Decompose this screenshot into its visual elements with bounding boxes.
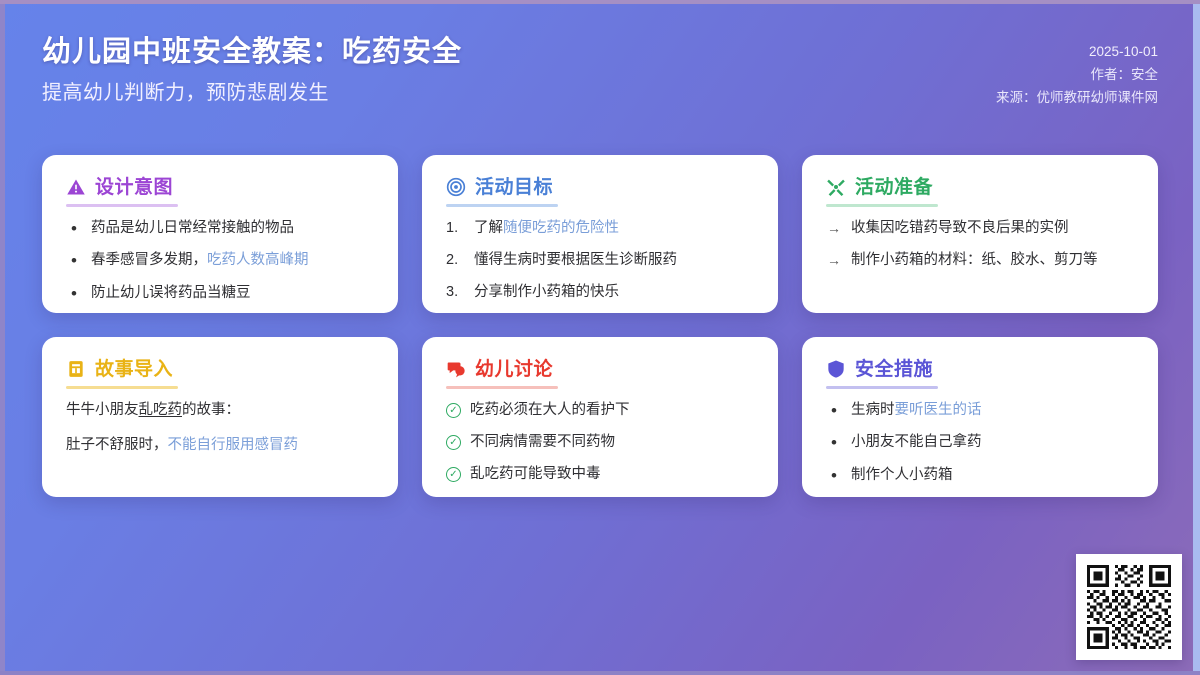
- card-safety-measures[interactable]: 安全措施•生病时要听医生的话•小朋友不能自己拿药•制作个人小药箱: [802, 337, 1158, 497]
- text-plain: 了解: [474, 220, 503, 236]
- warning-triangle-icon: [66, 177, 86, 197]
- text-highlight: 要听医生的话: [895, 402, 982, 418]
- header-meta: 2025-10-01 作者：安全 来源：优师教研幼师课件网: [996, 32, 1158, 110]
- list-item: ✓吃药必须在大人的看护下: [446, 400, 754, 421]
- card-story-intro[interactable]: 故事导入牛牛小朋友乱吃药的故事：肚子不舒服时，不能自行服用感冒药: [42, 337, 398, 497]
- page-subtitle: 提高幼儿判断力，预防悲剧发生: [42, 80, 462, 106]
- qr-code-image: [1084, 562, 1174, 652]
- target-icon: [446, 177, 466, 197]
- text-plain: 小朋友不能自己拿药: [851, 434, 982, 450]
- card-list: •生病时要听医生的话•小朋友不能自己拿药•制作个人小药箱: [826, 400, 1134, 486]
- list-marker-number: 3.: [446, 282, 465, 303]
- list-item: •药品是幼儿日常经常接触的物品: [66, 218, 374, 239]
- arrow-right-icon: →: [826, 250, 842, 270]
- paragraph: 肚子不舒服时，不能自行服用感冒药: [66, 435, 374, 457]
- speech-bubbles-icon: [446, 359, 466, 379]
- text-plain: 的故事：: [182, 402, 240, 418]
- card-design-intent[interactable]: 设计意图•药品是幼儿日常经常接触的物品•春季感冒多发期，吃药人数高峰期•防止幼儿…: [42, 155, 398, 313]
- card-body: •生病时要听医生的话•小朋友不能自己拿药•制作个人小药箱: [826, 400, 1134, 486]
- tools-icon: [826, 177, 846, 197]
- text-plain: 肚子不舒服时，: [66, 437, 168, 453]
- card-header: 幼儿讨论: [446, 359, 754, 379]
- card-title-rule: [826, 386, 938, 389]
- text-plain: 生病时: [851, 402, 895, 418]
- page-title: 幼儿园中班安全教案：吃药安全: [42, 34, 462, 70]
- card-title: 故事导入: [95, 360, 173, 379]
- list-item: 2.懂得生病时要根据医生诊断服药: [446, 250, 754, 271]
- card-header: 故事导入: [66, 359, 374, 379]
- frame-edge-left: [0, 0, 5, 675]
- list-item-text: 了解随便吃药的危险性: [474, 218, 619, 239]
- list-marker-number: 2.: [446, 250, 465, 271]
- card-header: 设计意图: [66, 177, 374, 197]
- list-item: →收集因吃错药导致不良后果的实例: [826, 218, 1134, 239]
- text-plain: 乱吃药可能导致中毒: [470, 466, 601, 482]
- list-item-text: 生病时要听医生的话: [851, 400, 982, 421]
- list-item: ✓乱吃药可能导致中毒: [446, 464, 754, 485]
- text-plain: 药品是幼儿日常经常接触的物品: [91, 220, 294, 236]
- bullet-dot-icon: •: [66, 283, 82, 304]
- check-circle-icon: ✓: [446, 403, 461, 418]
- list-item: •小朋友不能自己拿药: [826, 432, 1134, 453]
- card-body: 1.了解随便吃药的危险性2.懂得生病时要根据医生诊断服药3.分享制作小药箱的快乐: [446, 218, 754, 303]
- list-item: →制作小药箱的材料：纸、胶水、剪刀等: [826, 250, 1134, 271]
- text-plain: 牛牛小朋友: [66, 402, 139, 418]
- list-item-text: 防止幼儿误将药品当糖豆: [91, 283, 251, 304]
- card-title-rule: [826, 204, 938, 207]
- text-plain: 收集因吃错药导致不良后果的实例: [851, 220, 1069, 236]
- meta-source: 来源：优师教研幼师课件网: [996, 86, 1158, 109]
- arrow-right-icon: →: [826, 218, 842, 238]
- card-header: 活动准备: [826, 177, 1134, 197]
- card-list: 1.了解随便吃药的危险性2.懂得生病时要根据医生诊断服药3.分享制作小药箱的快乐: [446, 218, 754, 303]
- shield-icon: [826, 359, 846, 379]
- text-underline: 乱吃药: [139, 402, 183, 418]
- card-title: 活动目标: [475, 178, 553, 197]
- bullet-dot-icon: •: [826, 432, 842, 453]
- frame-edge-right: [1193, 0, 1200, 675]
- frame-edge-top: [0, 0, 1200, 4]
- card-title: 设计意图: [95, 178, 173, 197]
- list-item-text: 懂得生病时要根据医生诊断服药: [474, 250, 677, 271]
- card-title-rule: [66, 204, 178, 207]
- list-marker-number: 1.: [446, 218, 465, 239]
- card-body: 牛牛小朋友乱吃药的故事：肚子不舒服时，不能自行服用感冒药: [66, 400, 374, 457]
- list-item-text: 制作小药箱的材料：纸、胶水、剪刀等: [851, 250, 1098, 271]
- list-item-text: 分享制作小药箱的快乐: [474, 282, 619, 303]
- card-body: →收集因吃错药导致不良后果的实例→制作小药箱的材料：纸、胶水、剪刀等: [826, 218, 1134, 271]
- text-highlight: 吃药人数高峰期: [207, 252, 309, 268]
- bullet-dot-icon: •: [66, 218, 82, 239]
- list-item-text: 药品是幼儿日常经常接触的物品: [91, 218, 294, 239]
- list-item-text: 小朋友不能自己拿药: [851, 432, 982, 453]
- list-item-text: 收集因吃错药导致不良后果的实例: [851, 218, 1069, 239]
- list-item: 1.了解随便吃药的危险性: [446, 218, 754, 239]
- check-circle-icon: ✓: [446, 467, 461, 482]
- meta-date: 2025-10-01: [996, 40, 1158, 63]
- list-item-text: 春季感冒多发期，吃药人数高峰期: [91, 250, 309, 271]
- text-plain: 不同病情需要不同药物: [470, 434, 615, 450]
- card-header: 安全措施: [826, 359, 1134, 379]
- list-item: •生病时要听医生的话: [826, 400, 1134, 421]
- card-activity-goals[interactable]: 活动目标1.了解随便吃药的危险性2.懂得生病时要根据医生诊断服药3.分享制作小药…: [422, 155, 778, 313]
- card-list: •药品是幼儿日常经常接触的物品•春季感冒多发期，吃药人数高峰期•防止幼儿误将药品…: [66, 218, 374, 304]
- card-activity-preparation[interactable]: 活动准备→收集因吃错药导致不良后果的实例→制作小药箱的材料：纸、胶水、剪刀等: [802, 155, 1158, 313]
- text-plain: 春季感冒多发期，: [91, 252, 207, 268]
- card-title-rule: [446, 204, 558, 207]
- text-highlight: 不能自行服用感冒药: [168, 437, 299, 453]
- card-title: 幼儿讨论: [475, 360, 553, 379]
- book-icon: [66, 359, 86, 379]
- card-body: ✓吃药必须在大人的看护下✓不同病情需要不同药物✓乱吃药可能导致中毒: [446, 400, 754, 485]
- card-title-rule: [446, 386, 558, 389]
- paragraph: 牛牛小朋友乱吃药的故事：: [66, 400, 374, 422]
- card-header: 活动目标: [446, 177, 754, 197]
- list-item-text: 吃药必须在大人的看护下: [470, 400, 630, 421]
- card-title: 活动准备: [855, 178, 933, 197]
- card-grid: 设计意图•药品是幼儿日常经常接触的物品•春季感冒多发期，吃药人数高峰期•防止幼儿…: [42, 155, 1158, 497]
- card-title-rule: [66, 386, 178, 389]
- meta-author: 作者：安全: [996, 63, 1158, 86]
- card-list: →收集因吃错药导致不良后果的实例→制作小药箱的材料：纸、胶水、剪刀等: [826, 218, 1134, 271]
- list-item: •制作个人小药箱: [826, 465, 1134, 486]
- list-item-text: 制作个人小药箱: [851, 465, 953, 486]
- card-title: 安全措施: [855, 360, 933, 379]
- title-block: 幼儿园中班安全教案：吃药安全 提高幼儿判断力，预防悲剧发生: [42, 32, 462, 106]
- card-list: ✓吃药必须在大人的看护下✓不同病情需要不同药物✓乱吃药可能导致中毒: [446, 400, 754, 485]
- text-plain: 防止幼儿误将药品当糖豆: [91, 285, 251, 301]
- text-plain: 懂得生病时要根据医生诊断服药: [474, 252, 677, 268]
- slide-canvas: 幼儿园中班安全教案：吃药安全 提高幼儿判断力，预防悲剧发生 2025-10-01…: [0, 0, 1200, 675]
- text-plain: 吃药必须在大人的看护下: [470, 402, 630, 418]
- list-item: •春季感冒多发期，吃药人数高峰期: [66, 250, 374, 271]
- frame-edge-bottom: [0, 671, 1200, 675]
- bullet-dot-icon: •: [66, 250, 82, 271]
- list-item-text: 乱吃药可能导致中毒: [470, 464, 601, 485]
- text-plain: 制作个人小药箱: [851, 467, 953, 483]
- check-circle-icon: ✓: [446, 435, 461, 450]
- list-item-text: 不同病情需要不同药物: [470, 432, 615, 453]
- bullet-dot-icon: •: [826, 465, 842, 486]
- qr-code[interactable]: [1076, 554, 1182, 660]
- text-highlight: 随便吃药的危险性: [503, 220, 619, 236]
- slide-header: 幼儿园中班安全教案：吃药安全 提高幼儿判断力，预防悲剧发生 2025-10-01…: [42, 32, 1158, 110]
- list-item: ✓不同病情需要不同药物: [446, 432, 754, 453]
- list-item: •防止幼儿误将药品当糖豆: [66, 283, 374, 304]
- list-item: 3.分享制作小药箱的快乐: [446, 282, 754, 303]
- card-children-discussion[interactable]: 幼儿讨论✓吃药必须在大人的看护下✓不同病情需要不同药物✓乱吃药可能导致中毒: [422, 337, 778, 497]
- text-plain: 制作小药箱的材料：纸、胶水、剪刀等: [851, 252, 1098, 268]
- text-plain: 分享制作小药箱的快乐: [474, 284, 619, 300]
- bullet-dot-icon: •: [826, 400, 842, 421]
- card-body: •药品是幼儿日常经常接触的物品•春季感冒多发期，吃药人数高峰期•防止幼儿误将药品…: [66, 218, 374, 304]
